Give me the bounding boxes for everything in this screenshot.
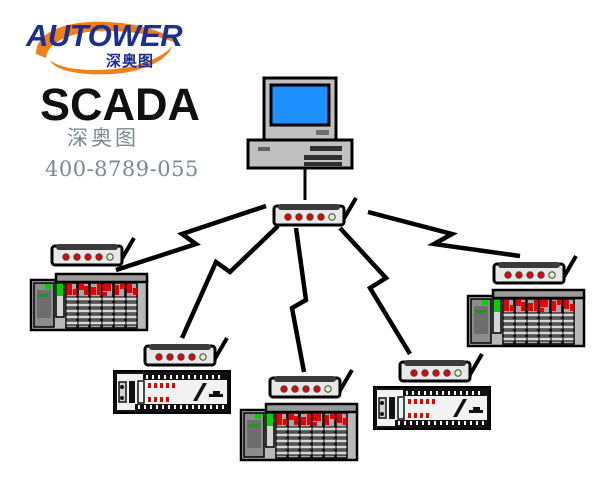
link-master-center-bottom	[292, 228, 306, 372]
wireless-router-icon	[272, 198, 364, 232]
rack-plc-icon	[30, 272, 150, 332]
contact-phone: 400-8789-055	[45, 159, 199, 180]
wireless-router-icon	[492, 256, 584, 290]
wireless-router-icon	[268, 370, 360, 404]
link-master-right-top	[368, 212, 520, 256]
scada-host-computer[interactable]	[248, 78, 358, 170]
plc-right-top[interactable]	[467, 288, 587, 348]
router-left-top[interactable]	[50, 238, 142, 272]
router-right-top[interactable]	[492, 256, 584, 290]
plc-center-bottom[interactable]	[240, 402, 360, 462]
company-logo: AUTOWER 深奥图	[18, 14, 218, 70]
compact-plc-icon	[373, 386, 493, 432]
logo-wordmark-cn: 深奥图	[106, 50, 154, 71]
page-title: SCADA	[40, 82, 200, 127]
router-right-bottom[interactable]	[398, 354, 490, 388]
rack-plc-icon	[240, 402, 360, 462]
wireless-router-icon	[398, 354, 490, 388]
master-router[interactable]	[272, 198, 364, 232]
logo-wordmark: AUTOWER	[26, 20, 182, 51]
plc-right-bottom[interactable]	[373, 386, 493, 432]
plc-left-bottom[interactable]	[113, 370, 233, 416]
compact-plc-icon	[113, 370, 233, 416]
plc-left-top[interactable]	[30, 272, 150, 332]
router-center-bottom[interactable]	[268, 370, 360, 404]
router-left-bottom[interactable]	[143, 338, 235, 372]
wireless-router-icon	[143, 338, 235, 372]
link-master-right-bottom	[340, 228, 410, 354]
rack-plc-icon	[467, 288, 587, 348]
computer-icon	[248, 78, 358, 170]
wireless-router-icon	[50, 238, 142, 272]
subtitle-cn: 深奥图	[67, 128, 139, 149]
diagram-canvas: AUTOWER 深奥图 SCADA 深奥图 400-8789-055	[0, 0, 600, 480]
